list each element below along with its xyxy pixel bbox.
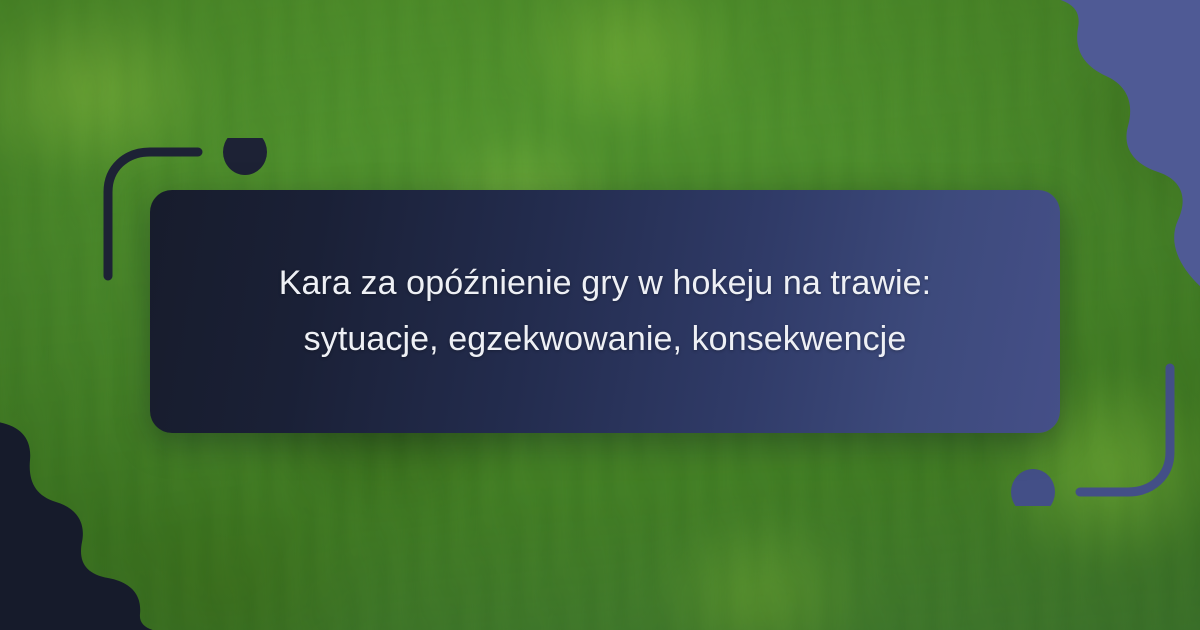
page-title: Kara za opóźnienie gry w hokeju na trawi… — [279, 256, 931, 366]
title-card: Kara za opóźnienie gry w hokeju na trawi… — [150, 190, 1060, 433]
og-image-canvas: Kara za opóźnienie gry w hokeju na trawi… — [0, 0, 1200, 630]
